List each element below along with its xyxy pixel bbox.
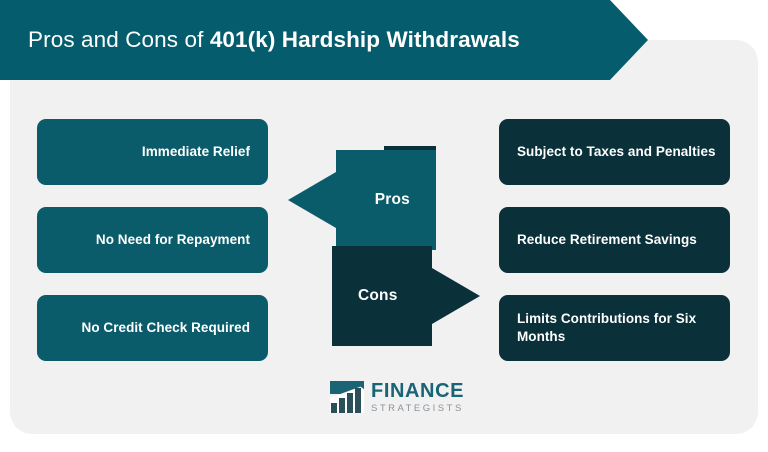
pro-box-2[interactable]: No Need for Repayment [37, 207, 268, 273]
pro-box-3[interactable]: No Credit Check Required [37, 295, 268, 361]
arrow-left-pros-icon[interactable]: Pros [288, 150, 436, 250]
logo-bar-1 [331, 403, 337, 413]
page-title: Pros and Cons of 401(k) Hardship Withdra… [0, 27, 520, 53]
con-box-3-label: Limits Contributions for Six Months [517, 310, 716, 346]
con-box-2-label: Reduce Retirement Savings [517, 231, 697, 249]
page-title-regular: Pros and Cons of [28, 27, 210, 52]
logo-bar-4 [355, 388, 361, 413]
header-banner: Pros and Cons of 401(k) Hardship Withdra… [0, 0, 648, 80]
con-box-3[interactable]: Limits Contributions for Six Months [499, 295, 730, 361]
con-box-2[interactable]: Reduce Retirement Savings [499, 207, 730, 273]
infographic-root: Pros and Cons of 401(k) Hardship Withdra… [0, 0, 768, 452]
con-box-1[interactable]: Subject to Taxes and Penalties [499, 119, 730, 185]
logo-bars-shape [330, 385, 364, 413]
pro-box-1[interactable]: Immediate Relief [37, 119, 268, 185]
center-arrows: Pros Cons [288, 146, 480, 342]
chart-bridge-icon [330, 381, 364, 413]
pro-box-3-label: No Credit Check Required [82, 319, 250, 337]
pros-arrow-label: Pros [375, 191, 410, 209]
page-title-bold: 401(k) Hardship Withdrawals [210, 27, 520, 52]
brand-logo: FINANCE STRATEGISTS [330, 381, 464, 414]
cons-arrow-label: Cons [358, 287, 398, 305]
logo-bar-2 [339, 398, 345, 413]
logo-wordmark: FINANCE STRATEGISTS [371, 381, 464, 414]
logo-bar-3 [347, 393, 353, 413]
logo-primary-text: FINANCE [371, 381, 464, 401]
pro-box-1-label: Immediate Relief [142, 143, 250, 161]
pro-box-2-label: No Need for Repayment [96, 231, 250, 249]
arrow-right-cons-icon[interactable]: Cons [332, 246, 480, 346]
con-box-1-label: Subject to Taxes and Penalties [517, 143, 716, 161]
logo-secondary-text: STRATEGISTS [371, 404, 464, 414]
